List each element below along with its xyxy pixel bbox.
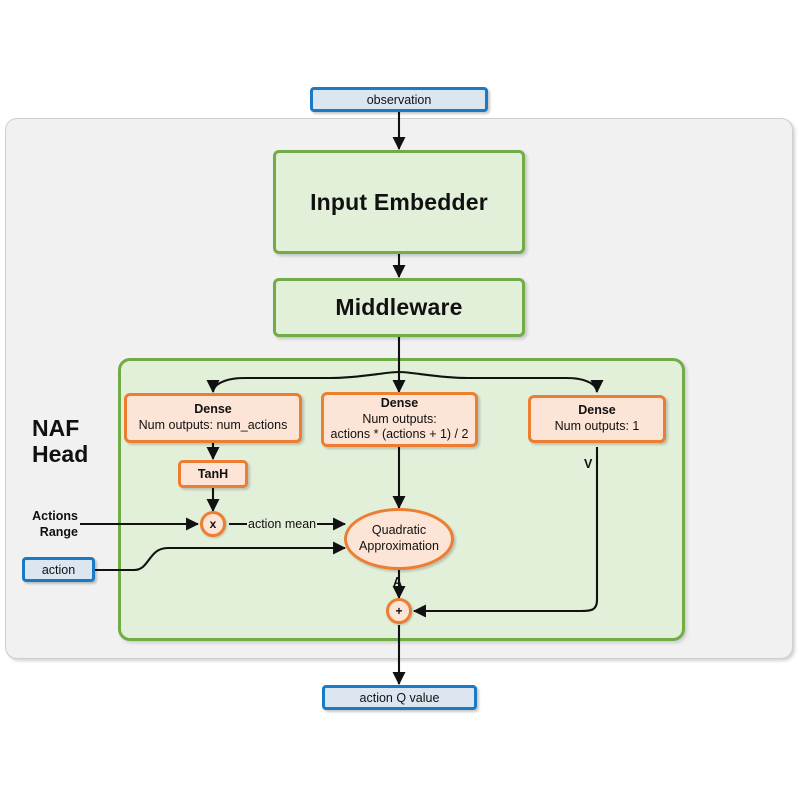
dense-left-node[interactable]: Dense Num outputs: num_actions (124, 393, 302, 443)
dense-right-subtitle: Num outputs: 1 (555, 419, 640, 435)
quadratic-line-2: Approximation (359, 539, 439, 555)
advantage-label: A (393, 575, 402, 589)
quadratic-approximation-node[interactable]: Quadratic Approximation (344, 508, 454, 570)
dense-middle-subtitle-line2: actions * (actions + 1) / 2 (331, 427, 469, 443)
dense-middle-title: Dense (381, 396, 419, 412)
dense-left-subtitle: Num outputs: num_actions (139, 418, 288, 434)
tanh-node[interactable]: TanH (178, 460, 248, 488)
middleware-node[interactable]: Middleware (273, 278, 525, 337)
naf-head-title: NAF Head (32, 415, 122, 468)
dense-middle-subtitle-line1: Num outputs: (362, 412, 436, 428)
quadratic-line-1: Quadratic (372, 523, 426, 539)
actions-range-label: Actions Range (0, 508, 78, 541)
diagram-canvas: NAF Head observation Input Embedder Midd… (0, 0, 800, 800)
add-operator-node[interactable]: + (386, 598, 412, 624)
action-mean-label: action mean (247, 517, 317, 531)
actions-range-line2: Range (0, 524, 78, 540)
dense-middle-node[interactable]: Dense Num outputs: actions * (actions + … (321, 392, 478, 447)
actions-range-line1: Actions (0, 508, 78, 524)
action-input-node[interactable]: action (22, 557, 95, 582)
action-q-value-node[interactable]: action Q value (322, 685, 477, 710)
input-embedder-node[interactable]: Input Embedder (273, 150, 525, 254)
observation-node[interactable]: observation (310, 87, 488, 112)
dense-right-node[interactable]: Dense Num outputs: 1 (528, 395, 666, 443)
multiply-operator-node[interactable]: x (200, 511, 226, 537)
value-label: V (584, 457, 592, 471)
dense-right-title: Dense (578, 403, 616, 419)
dense-left-title: Dense (194, 402, 232, 418)
